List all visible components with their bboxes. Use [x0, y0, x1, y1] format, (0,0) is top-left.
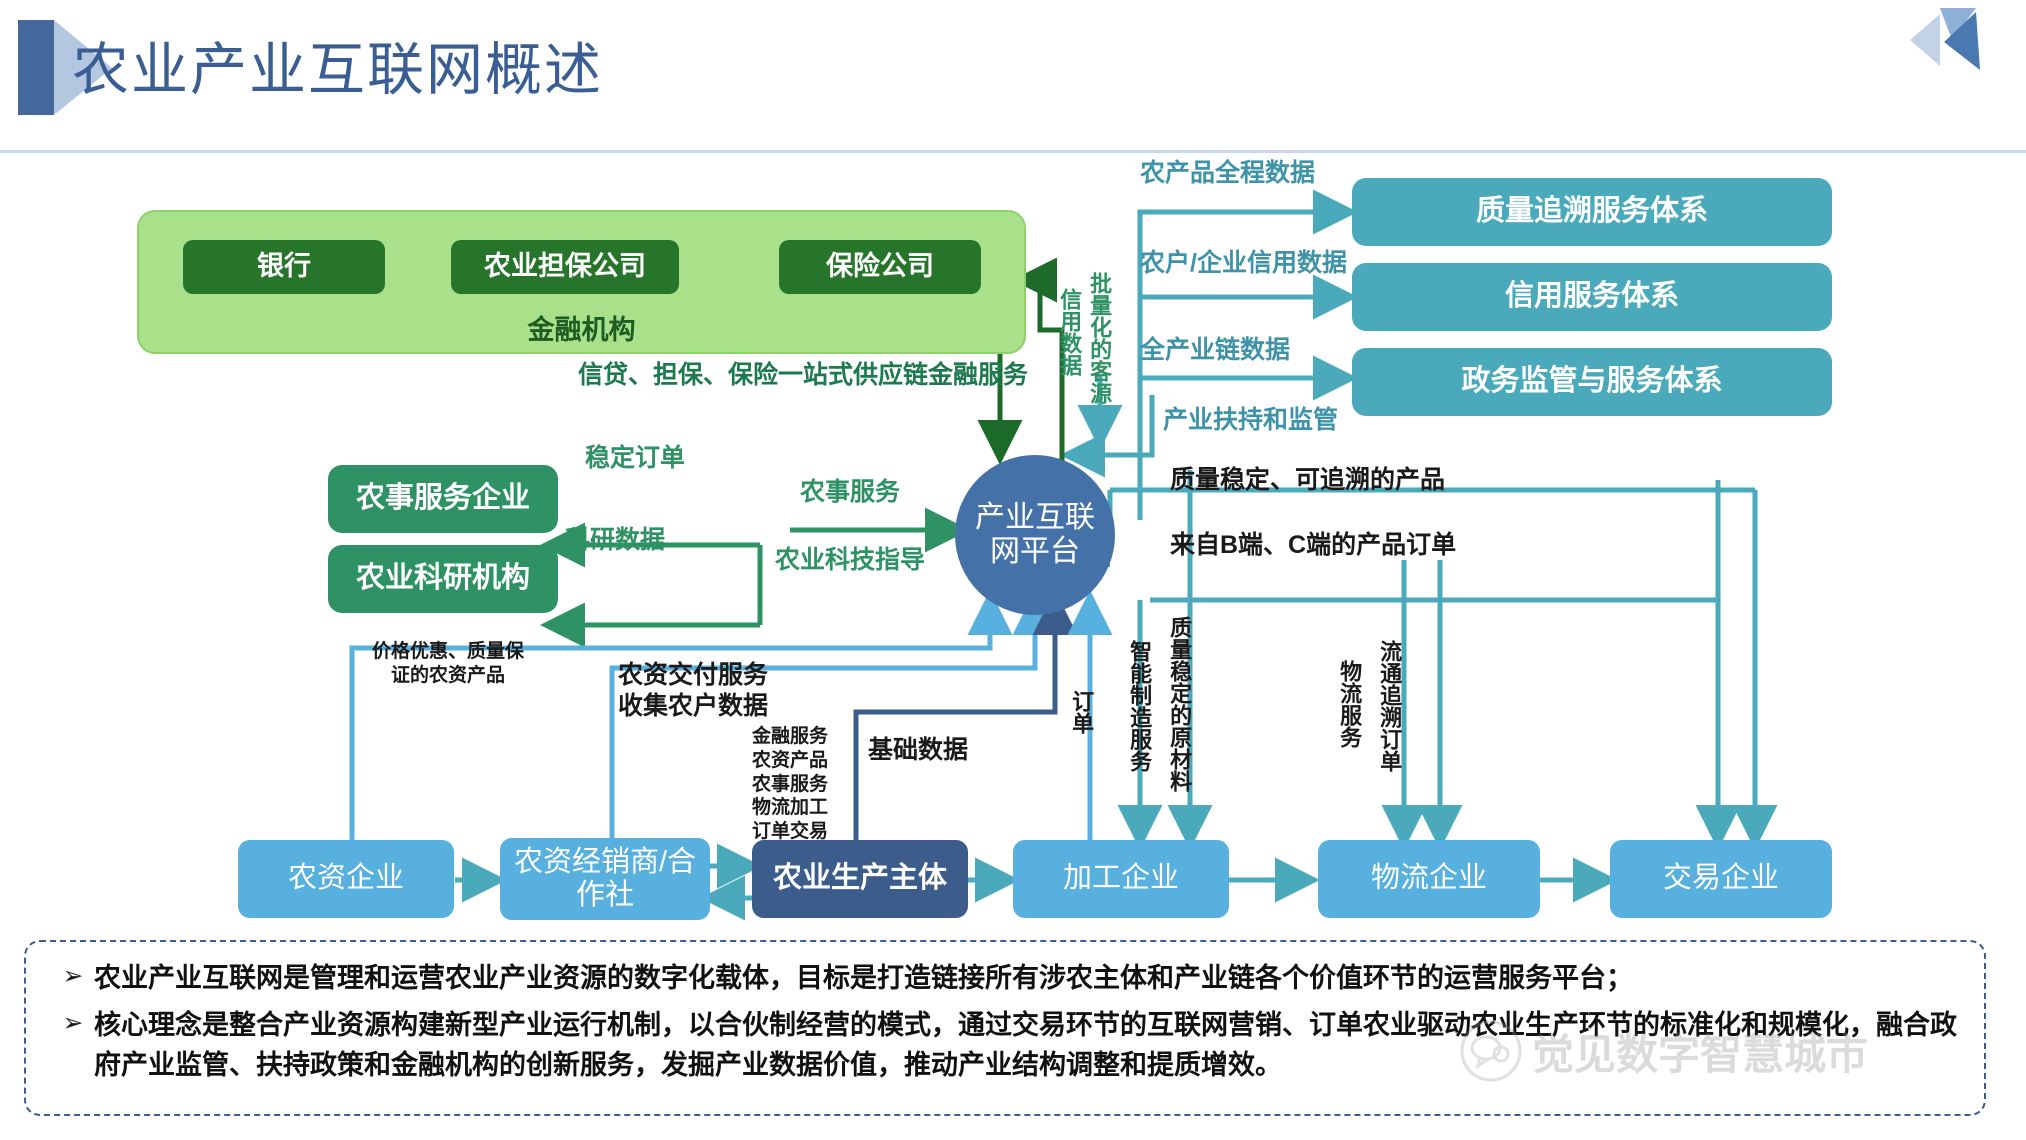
service-box-quality-trace[interactable]: 质量追溯服务体系 — [1352, 178, 1832, 246]
flow-label-agri-tech-guidance: 农业科技指导 — [775, 545, 925, 576]
service-box-credit[interactable]: 信用服务体系 — [1352, 263, 1832, 331]
header-divider — [0, 150, 2026, 153]
chain-box-processing-enterprise[interactable]: 加工企业 — [1013, 840, 1229, 918]
summary-bullet-row: ➢ 核心理念是整合产业资源构建新型产业运行机制，以合伙制经营的模式，通过交易环节… — [52, 1005, 1958, 1086]
flow-label-ag-product-full-data: 农产品全程数据 — [1140, 158, 1315, 189]
flow-label-agri-service: 农事服务 — [800, 477, 900, 508]
finance-chip-insurance[interactable]: 保险公司 — [779, 240, 981, 294]
service-box-label: 质量追溯服务体系 — [1476, 195, 1708, 228]
triangle-logo-icon — [1910, 6, 2006, 76]
bullet-arrow-icon: ➢ — [52, 958, 94, 994]
finance-chip-label: 银行 — [257, 251, 311, 282]
flow-label-quality-traceable-products: 质量稳定、可追溯的产品 — [1170, 465, 1445, 496]
flow-label-one-stop-finance: 信贷、担保、保险一站式供应链金融服务 — [578, 360, 1028, 391]
node-label: 农事服务企业 — [356, 482, 530, 515]
financial-institutions-group: 银行 农业担保公司 保险公司 金融机构 — [137, 210, 1026, 354]
flow-label-credit-data: 信用数据 — [1058, 288, 1081, 418]
chain-box-label: 加工企业 — [1063, 862, 1179, 895]
flow-label-circulation-trace-order: 流通追溯订单 — [1378, 640, 1401, 810]
finance-chip-bank[interactable]: 银行 — [183, 240, 385, 294]
chain-box-label: 农资企业 — [288, 862, 404, 895]
flow-label-stable-orders: 稳定订单 — [585, 443, 685, 474]
page-title: 农业产业互联网概述 — [72, 24, 603, 106]
finance-chip-guarantee[interactable]: 农业担保公司 — [451, 240, 679, 294]
hub-label-line2: 网平台 — [990, 535, 1080, 570]
title-accent-bar — [18, 20, 54, 115]
service-box-label: 政务监管与服务体系 — [1461, 365, 1722, 398]
chain-box-label: 交易企业 — [1663, 862, 1779, 895]
summary-bullet-text: 农业产业互联网是管理和运营农业产业资源的数字化载体，目标是打造链接所有涉农主体和… — [94, 958, 1958, 999]
chain-box-label: 物流企业 — [1371, 862, 1487, 895]
flow-label-farmer-credit-data: 农户/企业信用数据 — [1140, 248, 1347, 279]
chain-box-label: 农资经销商/合 作社 — [514, 846, 696, 913]
flow-label-platform-services-list: 金融服务 农资产品 农事服务 物流加工 订单交易 — [752, 725, 828, 844]
node-agri-research-institute[interactable]: 农业科研机构 — [328, 545, 558, 613]
chain-box-logistics-enterprise[interactable]: 物流企业 — [1318, 840, 1540, 918]
summary-bullet-row: ➢ 农业产业互联网是管理和运营农业产业资源的数字化载体，目标是打造链接所有涉农主… — [52, 958, 1958, 999]
chain-box-label: 农业生产主体 — [773, 862, 947, 895]
financial-group-caption: 金融机构 — [139, 308, 1024, 347]
flow-label-quality-stable-raw-material: 质量稳定的原材料 — [1168, 616, 1191, 806]
flow-label-orders-from-b-c: 来自B端、C端的产品订单 — [1170, 530, 1456, 561]
hub-label-line1: 产业互联 — [975, 501, 1095, 536]
chain-box-agri-producer[interactable]: 农业生产主体 — [752, 840, 968, 918]
flow-label-smart-manufacturing: 智能制造服务 — [1128, 640, 1151, 810]
bullet-arrow-icon: ➢ — [52, 1005, 94, 1041]
flow-label-batch-customers: 批量化的客源 — [1088, 272, 1111, 422]
chain-box-agri-inputs-dealer[interactable]: 农资经销商/合 作社 — [500, 838, 710, 920]
service-box-gov-supervision[interactable]: 政务监管与服务体系 — [1352, 348, 1832, 416]
flow-label-industry-support: 产业扶持和监管 — [1163, 405, 1338, 436]
flow-label-research-data: 科研数据 — [565, 525, 665, 556]
node-label: 农业科研机构 — [356, 562, 530, 595]
flow-label-whole-chain-data: 全产业链数据 — [1140, 335, 1290, 366]
finance-chip-label: 农业担保公司 — [484, 251, 646, 282]
summary-bullet-text: 核心理念是整合产业资源构建新型产业运行机制，以合伙制经营的模式，通过交易环节的互… — [94, 1005, 1958, 1086]
flow-label-cheap-quality-inputs: 价格优惠、质量保 证的农资产品 — [358, 640, 538, 688]
flow-label-orders-vertical: 订单 — [1070, 690, 1093, 780]
flow-label-basic-data: 基础数据 — [868, 735, 968, 766]
platform-hub[interactable]: 产业互联 网平台 — [955, 455, 1115, 615]
node-agri-service-enterprise[interactable]: 农事服务企业 — [328, 465, 558, 533]
summary-panel: ➢ 农业产业互联网是管理和运营农业产业资源的数字化载体，目标是打造链接所有涉农主… — [24, 940, 1986, 1116]
chain-box-trading-enterprise[interactable]: 交易企业 — [1610, 840, 1832, 918]
finance-chip-label: 保险公司 — [826, 251, 934, 282]
service-box-label: 信用服务体系 — [1505, 280, 1679, 313]
flow-label-agri-input-delivery: 农资交付服务 收集农户数据 — [618, 660, 768, 723]
chain-box-agri-inputs-enterprise[interactable]: 农资企业 — [238, 840, 454, 918]
flow-label-logistics-service: 物流服务 — [1338, 660, 1361, 810]
